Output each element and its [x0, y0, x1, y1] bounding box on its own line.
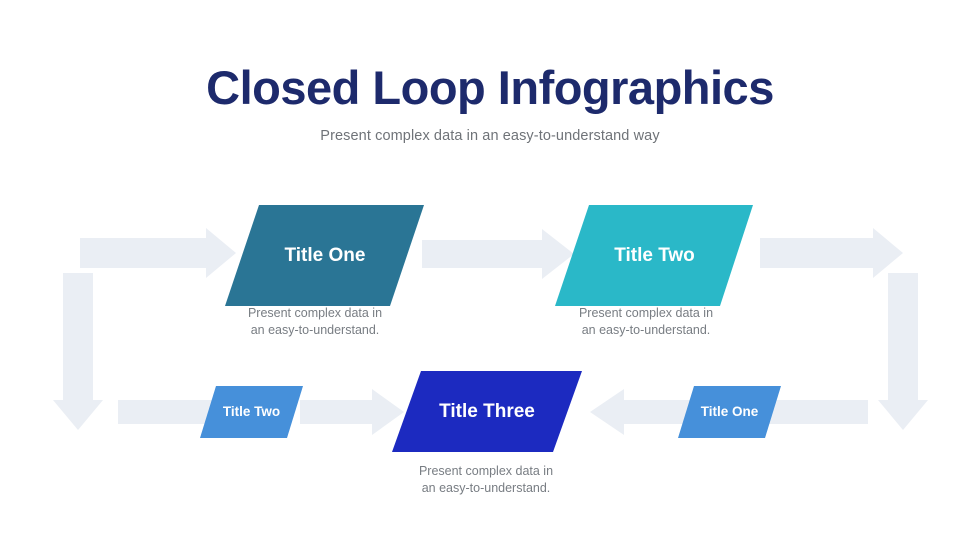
node-title-two[interactable] [555, 205, 753, 306]
node-title-one[interactable] [225, 205, 424, 306]
node-title-three[interactable] [392, 371, 582, 452]
caption-title-one: Present complex data in an easy-to-under… [215, 305, 415, 339]
arrow-one-to-two [422, 229, 574, 279]
node-small-title-one[interactable] [678, 386, 781, 438]
caption-title-three: Present complex data in an easy-to-under… [386, 463, 586, 497]
node-small-title-two[interactable] [200, 386, 303, 438]
slide-canvas: Closed Loop Infographics Present complex… [0, 0, 980, 551]
arrow-left-in [80, 228, 236, 278]
arrow-right-down [878, 273, 928, 430]
arrow-two-to-three [300, 389, 404, 435]
arrow-left-down [53, 273, 103, 430]
arrow-right-out [760, 228, 903, 278]
caption-title-two: Present complex data in an easy-to-under… [546, 305, 746, 339]
